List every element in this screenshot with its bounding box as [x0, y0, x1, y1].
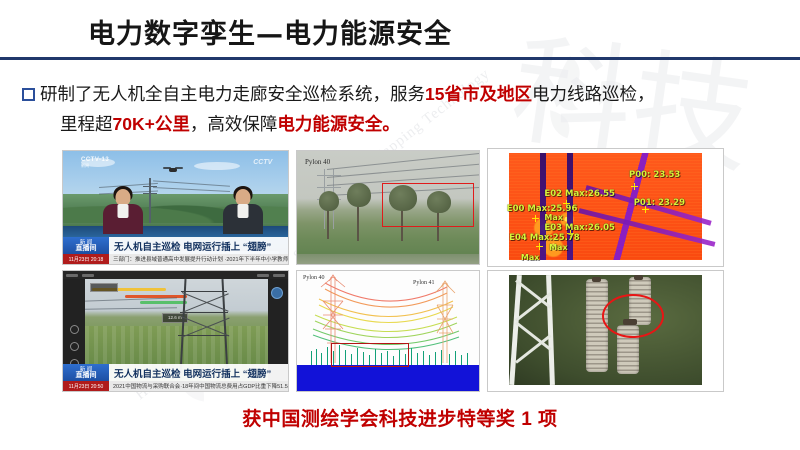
pylon-label-right: Pylon 41 [413, 280, 435, 286]
ticker-timestamp: 11月23日 20:18 [63, 254, 109, 264]
bullet-text-1: 研制了无人机全自主电力走廊安全巡检系统，服务15省市及地区电力线路巡检， [40, 80, 654, 109]
hud-status-box [90, 283, 118, 292]
thermal-reading-e02: E02 Max:26.55 [544, 189, 615, 199]
power-line [327, 152, 480, 170]
lattice-member [509, 275, 522, 385]
ticker-timestamp: 11月23日 20:50 [63, 381, 109, 391]
panel-pylon-corridor-photo: Pylon 40 [296, 150, 480, 265]
text-line1-part2: 电力线路巡检， [532, 84, 655, 104]
toolbar-chip [273, 274, 285, 277]
badge-line-2: 直播间 [76, 373, 97, 379]
news-anchor-left [101, 189, 145, 235]
panel-lidar-point-cloud: Pylon 40 Pylon 41 [296, 270, 480, 392]
transmission-tower [149, 178, 151, 223]
tree-canopy [319, 191, 339, 211]
news-ticker: 11月23日 20:50 2021中国物流与采购联合会·18年间中国物流总费用占… [63, 381, 288, 391]
pylon-label-left: Pylon 40 [303, 275, 325, 281]
panel-drone-inspection-view: 12.6 m 新 闻 [62, 270, 289, 392]
point-cloud-section: Pylon 40 Pylon 41 [297, 271, 479, 391]
lattice-member [546, 275, 555, 385]
text-line2-highlight2: 电力能源安全。 [277, 114, 400, 134]
award-footer-text: 获中国测绘学会科技进步特等奖 1 项 [0, 404, 800, 431]
insulator-cap [634, 275, 643, 280]
panel-infrared-thermal: P00: 23.53 P01: 23.29 E02 Max:26.55 E00 … [487, 148, 724, 267]
tower-crossarm [180, 312, 229, 314]
thermal-reading-p00: P00: 23.53 [629, 170, 680, 180]
ticker-headline: 三部门：推进县域普通高中发展提升行动计划 ·2021年下半年中小学教师资格考试笔… [109, 254, 288, 264]
insulator-cap [592, 277, 601, 282]
news-ticker: 11月23日 20:18 三部门：推进县域普通高中发展提升行动计划 ·2021年… [63, 254, 288, 264]
bullet-line-1: 研制了无人机全自主电力走廊安全巡检系统，服务15省市及地区电力线路巡检， [22, 80, 782, 109]
drone-icon [164, 167, 182, 173]
panel-cctv-news-broadcast: CCTV-13新闻 CCTV 新 闻 直播间 无 [62, 150, 289, 265]
toolbar-chip [66, 274, 78, 277]
text-line2-highlight1: 70K+公里 [113, 114, 190, 134]
toolbar-chip [257, 274, 269, 277]
record-icon[interactable] [70, 342, 79, 351]
news-studio-scene: CCTV-13新闻 CCTV 新 闻 直播间 无 [63, 151, 288, 264]
page-title: 电力数字孪生—电力能源安全 [88, 12, 452, 51]
text-line1-part1: 研制了无人机全自主电力走廊安全巡检系统，服务 [40, 84, 425, 104]
anchor-collar [118, 204, 129, 218]
broadcast-caption: 无人机自主巡检 电网运行插上 “翅膀” [109, 239, 271, 253]
thermal-reading-e00: E00 Max:25.96 [507, 204, 578, 214]
drone-rotor [163, 167, 171, 169]
cctv-logo-sub: 新闻 [81, 163, 109, 169]
toolbar-chip [82, 274, 94, 277]
body-text-block: 研制了无人机全自主电力走廊安全巡检系统，服务15省市及地区电力线路巡检， 里程超… [22, 80, 782, 139]
tree-canopy [347, 183, 371, 207]
vegetation-detection-box [382, 183, 474, 227]
title-divider [0, 57, 800, 60]
compass-icon [271, 287, 283, 299]
cctv-corner-logo: CCTV [253, 159, 272, 166]
measurement-marker-e04 [536, 243, 543, 250]
tower-crossarm [181, 291, 227, 293]
news-anchor-right [221, 189, 265, 235]
cctv-channel-logo: CCTV-13新闻 [81, 157, 109, 169]
panel-insulator-defect [487, 270, 724, 392]
news-program-badge: 新 闻 直播间 [63, 364, 109, 381]
clearance-detection-box [331, 343, 409, 367]
news-program-badge: 新 闻 直播间 [63, 237, 109, 254]
thermal-max-marker: Max [544, 213, 563, 222]
slide-root: 科技 High-level Information Surveying Mapp… [0, 0, 800, 450]
measurement-marker-e00 [532, 215, 539, 222]
power-line [85, 307, 177, 310]
text-line2-part2: ，高效保障 [190, 114, 278, 134]
thermal-reading-p01: P01: 23.29 [634, 198, 685, 208]
drone-rotor [175, 167, 183, 169]
app-toolbar [63, 271, 288, 279]
point-cloud-svg [297, 271, 479, 391]
pylon-crossarm [317, 187, 341, 188]
defect-highlight-ellipse [602, 294, 664, 338]
thermal-max-marker: Max [549, 243, 568, 252]
measurement-marker-p00 [631, 183, 638, 190]
broadcast-caption: 无人机自主巡检 电网运行插上 “翅膀” [109, 366, 271, 380]
text-line2-part1: 里程超 [60, 114, 113, 134]
foreground-tower [173, 279, 235, 375]
insulator-photo-wrap [488, 271, 723, 391]
camera-icon[interactable] [70, 325, 79, 334]
broadcast-lower-third: 新 闻 直播间 无人机自主巡检 电网运行插上 “翅膀” [63, 364, 288, 381]
broadcast-lower-third: 新 闻 直播间 无人机自主巡检 电网运行插上 “翅膀” [63, 237, 288, 254]
thermal-reading-e04: E04 Max:25.78 [509, 233, 580, 243]
bullet-square-icon [22, 88, 35, 101]
corridor-photo: Pylon 40 [297, 151, 479, 264]
anchor-collar [237, 204, 248, 218]
drone-app-frame: 12.6 m 新 闻 [63, 271, 288, 391]
badge-line-2: 直播间 [76, 246, 97, 252]
water-strip [297, 254, 479, 264]
pylon-label: Pylon 40 [305, 158, 330, 166]
tower-lattice [513, 275, 563, 385]
bullet-line-2: 里程超70K+公里，高效保障电力能源安全。 [60, 109, 782, 139]
cctv-logo-text: CCTV-13 [81, 157, 109, 163]
ticker-headline: 2021中国物流与采购联合会·18年间中国物流总费用占GDP比重下降51.5% … [109, 381, 288, 391]
insulator-photo [509, 275, 702, 385]
text-line1-highlight: 15省市及地区 [425, 84, 532, 104]
thermal-reading-e03: E03 Max:26.05 [544, 223, 615, 233]
thermal-max-marker: Max [521, 253, 540, 262]
thermal-image-wrap: P00: 23.53 P01: 23.29 E02 Max:26.55 E00 … [488, 149, 723, 266]
